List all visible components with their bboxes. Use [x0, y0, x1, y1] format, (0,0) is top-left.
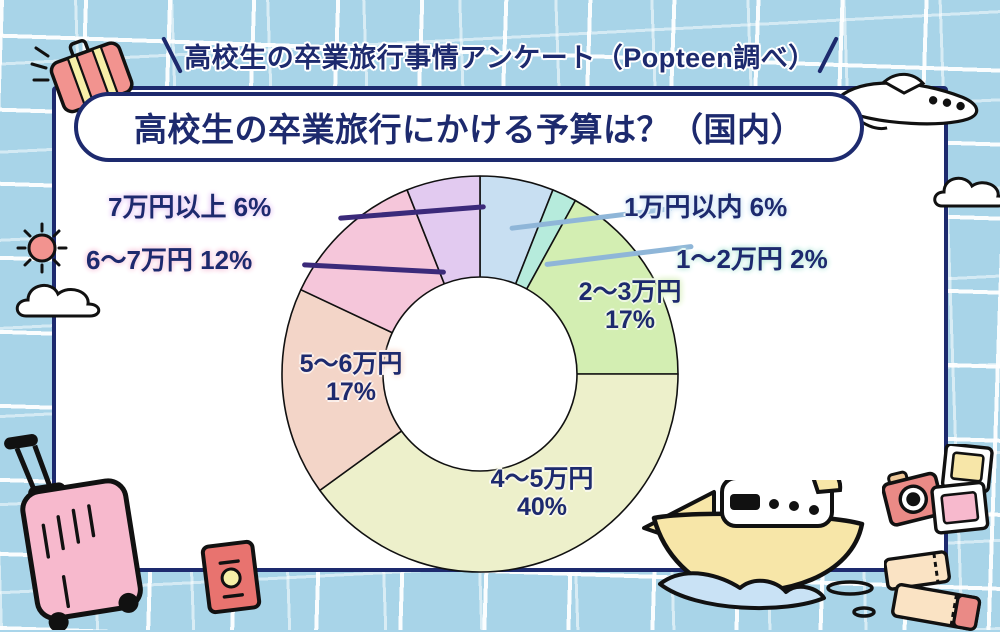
- slice-label-7man-ijou: 7万円以上 6%: [108, 187, 271, 224]
- donut-chart: [278, 172, 682, 576]
- donut-hole: [383, 277, 577, 471]
- slice-label-1-2man: 1〜2万円 2%: [676, 239, 828, 276]
- donut-chart-svg: [278, 172, 682, 576]
- right-slash-icon: [817, 36, 839, 73]
- header-title: 高校生の卒業旅行事情アンケート（Popteen調べ）: [184, 36, 815, 75]
- header: 高校生の卒業旅行事情アンケート（Popteen調べ）: [0, 26, 1000, 84]
- left-slash-icon: [161, 36, 183, 73]
- slice-label-1man-inai: 1万円以内 6%: [624, 187, 787, 224]
- chart-title-pill: 高校生の卒業旅行にかける予算は？（国内）: [74, 92, 864, 162]
- page-title: 高校生の卒業旅行にかける予算は？（国内）: [134, 103, 804, 151]
- slice-label-6-7man: 6〜7万円 12%: [86, 240, 252, 277]
